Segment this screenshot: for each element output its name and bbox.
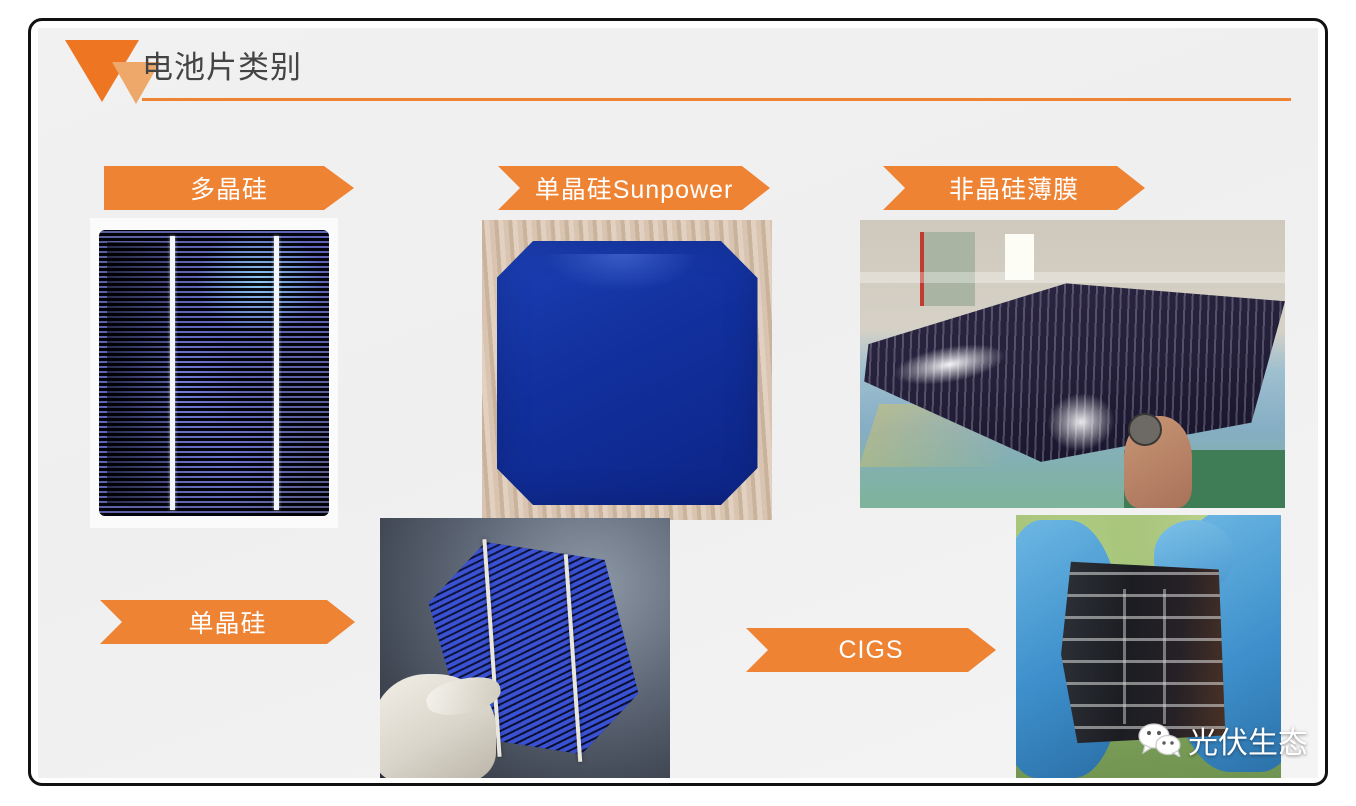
panel-highlight-2 xyxy=(1043,388,1118,454)
mono-photo-inner xyxy=(380,518,670,778)
banner-sunpower[interactable]: 单晶硅Sunpower xyxy=(498,166,770,210)
poly-shaded-edge xyxy=(107,242,172,504)
thinfilm-photo-inner xyxy=(860,220,1285,508)
banner-mono[interactable]: 单晶硅 xyxy=(100,600,355,644)
cigs-flexible-cell-surface xyxy=(1061,558,1225,751)
slide-header: 电池片类别 xyxy=(38,28,1318,118)
cigs-flexible-cell-photo xyxy=(1016,515,1281,778)
slide-canvas: 电池片类别 多晶硅 单晶硅Sunpower xyxy=(38,28,1318,778)
factory-beam xyxy=(860,272,1285,284)
banner-poly[interactable]: 多晶硅 xyxy=(104,166,354,210)
wristwatch xyxy=(1128,413,1162,446)
cigs-scribe-line-1 xyxy=(1123,589,1126,724)
monocrystalline-cell-in-gloved-hand-photo xyxy=(380,518,670,778)
amorphous-silicon-thin-film-panel-photo xyxy=(860,220,1285,508)
sunpower-reflection xyxy=(543,254,700,291)
poly-wafer-surface xyxy=(99,230,330,515)
cigs-scribe-line-2 xyxy=(1163,589,1166,724)
banner-mono-label: 单晶硅 xyxy=(188,604,266,640)
sunpower-monocrystalline-cell-photo xyxy=(482,220,772,520)
banner-cigs-label: CIGS xyxy=(838,636,903,665)
banner-thinfilm-label: 非晶硅薄膜 xyxy=(949,170,1079,206)
poly-busbar-1 xyxy=(170,236,175,510)
sunpower-photo-inner xyxy=(482,220,772,520)
poly-busbar-2 xyxy=(274,236,279,510)
slide-frame: 电池片类别 多晶硅 单晶硅Sunpower xyxy=(28,18,1328,786)
banner-thinfilm[interactable]: 非晶硅薄膜 xyxy=(883,166,1145,210)
page-title: 电池片类别 xyxy=(142,40,302,96)
poly-photo-inner xyxy=(90,218,338,528)
banner-sunpower-label: 单晶硅Sunpower xyxy=(535,170,734,206)
banner-poly-label: 多晶硅 xyxy=(190,170,268,206)
polycrystalline-silicon-wafer-photo xyxy=(90,218,338,528)
cigs-photo-inner xyxy=(1016,515,1281,778)
header-divider xyxy=(142,98,1291,101)
sunpower-cell-surface xyxy=(497,241,758,505)
banner-cigs[interactable]: CIGS xyxy=(746,628,996,672)
factory-door xyxy=(920,232,975,307)
